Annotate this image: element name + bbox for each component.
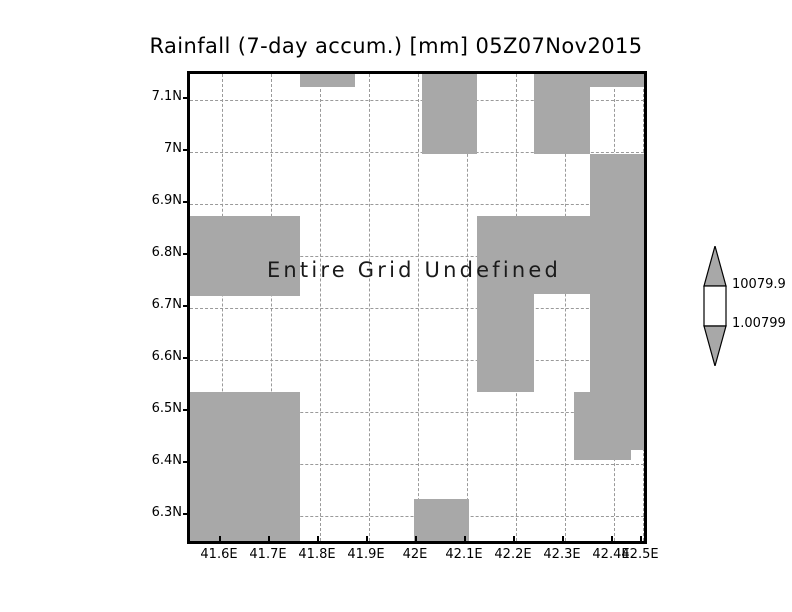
plot-area[interactable]: [190, 74, 644, 541]
ytick-label-6.4N: 6.4N: [126, 453, 182, 468]
undefined-cell: [300, 74, 355, 87]
xtick-mark-42E: [415, 536, 417, 541]
ytick-mark-6.4N: [183, 461, 188, 463]
xtick-mark-42.2E: [513, 536, 515, 541]
page-title: Rainfall (7-day accum.) [mm] 05Z07Nov201…: [0, 34, 792, 58]
xtick-mark-42.3E: [562, 536, 564, 541]
ytick-mark-7.1N: [183, 97, 188, 99]
ytick-label-6.6N: 6.6N: [126, 349, 182, 364]
xtick-mark-41.6E: [219, 536, 221, 541]
ytick-mark-6.3N: [183, 513, 188, 515]
ytick-mark-7N: [183, 149, 188, 151]
colorbar-icon: [700, 246, 730, 366]
gridline-lat-6.7N: [190, 308, 644, 309]
ytick-mark-6.9N: [183, 201, 188, 203]
xtick-mark-42.4E: [611, 536, 613, 541]
undefined-cell: [477, 216, 590, 294]
ytick-label-6.7N: 6.7N: [126, 297, 182, 312]
ytick-label-6.3N: 6.3N: [126, 505, 182, 520]
plot-frame: [187, 71, 647, 544]
ytick-label-7.1N: 7.1N: [126, 89, 182, 104]
xtick-mark-41.7E: [268, 536, 270, 541]
gridline-lat-6.9N: [190, 204, 644, 205]
ytick-label-7N: 7N: [126, 141, 182, 156]
ytick-label-6.9N: 6.9N: [126, 193, 182, 208]
gridline-lon-42E: [418, 74, 419, 541]
ytick-mark-6.6N: [183, 357, 188, 359]
xtick-mark-41.9E: [366, 536, 368, 541]
xtick-mark-42.1E: [464, 536, 466, 541]
undefined-cell: [617, 222, 644, 294]
undefined-cell: [190, 216, 300, 296]
undefined-cell: [422, 74, 477, 154]
ytick-label-6.5N: 6.5N: [126, 401, 182, 416]
legend-label-low: 1.00799: [732, 316, 786, 331]
undefined-cell: [414, 499, 469, 541]
xtick-label-42.5E: 42.5E: [610, 547, 670, 562]
gridline-lon-41.8E: [320, 74, 321, 541]
undefined-cell: [534, 74, 590, 154]
colorbar-legend[interactable]: 10079.9 1.00799: [700, 246, 788, 366]
latitude-axis: 7.1N7N6.9N6.8N6.7N6.6N6.5N6.4N6.3N: [122, 71, 182, 538]
undefined-cell: [574, 392, 631, 460]
longitude-axis: 41.6E41.7E41.8E41.9E42E42.1E42.2E42.3E42…: [187, 541, 641, 567]
xtick-mark-42.5E: [640, 536, 642, 541]
legend-label-high: 10079.9: [732, 277, 786, 292]
ytick-mark-6.8N: [183, 253, 188, 255]
ytick-mark-6.7N: [183, 305, 188, 307]
undefined-cell: [190, 392, 300, 541]
undefined-cell: [477, 294, 534, 392]
gridline-lon-41.9E: [369, 74, 370, 541]
gridline-lat-6.6N: [190, 360, 644, 361]
xtick-mark-41.8E: [317, 536, 319, 541]
undefined-cell: [590, 74, 644, 87]
ytick-label-6.8N: 6.8N: [126, 245, 182, 260]
ytick-mark-6.5N: [183, 409, 188, 411]
